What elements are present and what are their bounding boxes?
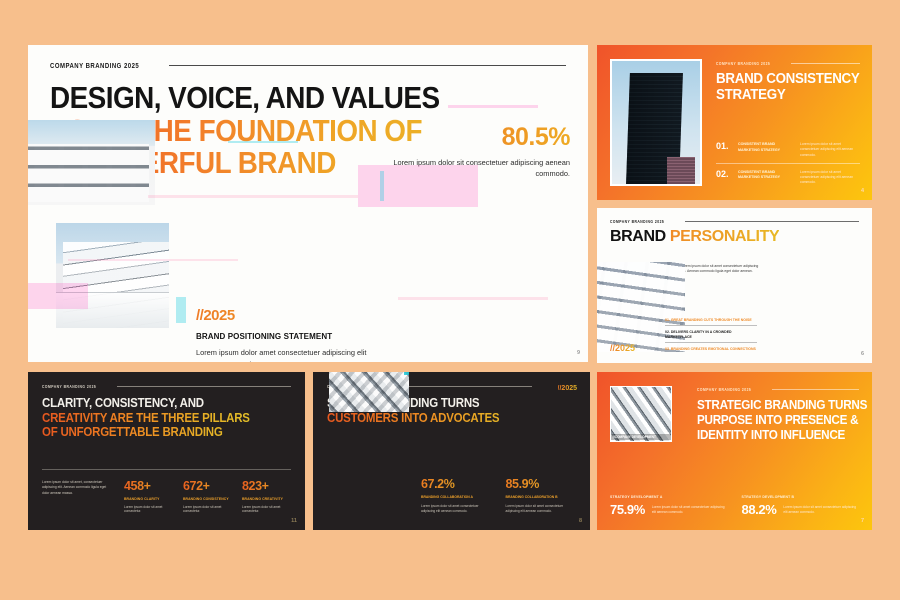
item-label: CONSISTENT BRAND MARKETING STRATEGY [738, 142, 794, 152]
personality-body: Lorem ipsum dolor sit amet consectetuer … [681, 264, 759, 275]
stat-block: 823+ BRANDING CREATIVITY Lorem ipsum dol… [242, 480, 291, 514]
stat-row: 75.9% Lorem ipsum dolor sit amet consect… [610, 503, 728, 516]
advocates-title-line-2: CUSTOMERS INTO ADVOCATES [327, 411, 556, 426]
stat-block: 458+ BRANDING CLARITY Lorem ipsum dolor … [124, 480, 173, 514]
strategic-kicker: COMPANY BRANDING 2025 [697, 387, 751, 392]
stat-label: BRANDING COLLABORATION A [421, 495, 492, 499]
stat-text: Lorem ipsum dolor sit amet consectetuer … [652, 505, 728, 515]
hero-year: //2025 [196, 307, 376, 324]
strategic-title-line-1: STRATEGIC BRANDING TURNS [697, 398, 843, 413]
stat-row: 88.2% Lorem ipsum dolor sit amet consect… [742, 503, 860, 516]
personality-kicker-row: COMPANY BRANDING 2025 [610, 219, 859, 224]
item-text: Lorem ipsum dolor sit amet consectetuer … [800, 170, 860, 185]
slide-customers-advocates[interactable]: COMPANY BRANDING 2025 STRONG BRANDING TU… [313, 372, 590, 530]
consistency-kicker-rule [791, 63, 860, 64]
stat-block: STRATEGY DEVELOPMENT B 88.2% Lorem ipsum… [742, 495, 860, 516]
teal-glitch-accent [404, 372, 409, 375]
stat-text: Lorem ipsum dolor sit amet consectetuer … [421, 504, 492, 514]
stat-label: BRANDING CONSISTENCY [183, 497, 232, 501]
hero-kicker-row: COMPANY BRANDING 2025 [50, 61, 566, 70]
stat-label: STRATEGY DEVELOPMENT B [742, 495, 860, 499]
consistency-kicker: COMPANY BRANDING 2025 [716, 61, 770, 66]
stat-block: 67.2% BRANDING COLLABORATION A Lorem ips… [421, 478, 492, 514]
hero-kicker: COMPANY BRANDING 2025 [50, 61, 139, 70]
slide-clarity-pillars[interactable]: COMPANY BRANDING 2025 CLARITY, CONSISTEN… [28, 372, 305, 530]
strategic-title: STRATEGIC BRANDING TURNS PURPOSE INTO PR… [697, 398, 859, 443]
slide-hero[interactable]: COMPANY BRANDING 2025 DESIGN, VOICE, AND… [28, 45, 588, 362]
clarity-divider [42, 469, 291, 470]
hero-stat: 80.5% Lorem ipsum dolor sit consectetuer… [385, 125, 570, 180]
item-label: CONSISTENT BRAND MARKETING STRATEGY [738, 170, 794, 180]
white-modern-building-photo [28, 120, 155, 205]
strategic-title-line-2: PURPOSE INTO PRESENCE & [697, 413, 843, 428]
stat-value: 67.2% [421, 478, 492, 491]
glass-tower-photo [610, 59, 702, 186]
stat-block: 672+ BRANDING CONSISTENCY Lorem ipsum do… [183, 480, 232, 514]
hero-positioning-block: //2025 BRAND POSITIONING STATEMENT Lorem… [196, 307, 376, 362]
consistency-title: BRAND CONSISTENCY STRATEGY [716, 72, 860, 103]
personality-kicker: COMPANY BRANDING 2025 [610, 219, 664, 224]
stat-value: 823+ [242, 480, 291, 493]
item-text: Lorem ipsum dolor sit amet consectetuer … [800, 142, 860, 157]
consistency-kicker-row: COMPANY BRANDING 2025 [716, 61, 860, 66]
stat-text: Lorem ipsum dolor sit amet consectetur. [124, 505, 173, 515]
consistency-page-number: 4 [861, 188, 864, 194]
personality-page-number: 6 [861, 351, 864, 357]
clarity-kicker: COMPANY BRANDING 2025 [42, 384, 96, 389]
slide-brand-consistency[interactable]: COMPANY BRANDING 2025 BRAND CONSISTENCY … [597, 45, 872, 200]
stat-value: 458+ [124, 480, 173, 493]
personality-title: BRAND PERSONALITY [610, 229, 859, 245]
stat-value: 88.2% [742, 503, 777, 516]
clarity-stats-grid: Lorem ipsum dolor sit amet, consectetuer… [42, 480, 291, 514]
stat-text: Lorem ipsum dolor sit amet consectetuer … [783, 505, 859, 515]
hero-kicker-rule [169, 65, 566, 66]
list-item: 01. GREAT BRANDING CUTS THROUGH THE NOIS… [665, 314, 757, 326]
hero-subtitle: BRAND POSITIONING STATEMENT [196, 332, 376, 341]
advocates-stats: 67.2% BRANDING COLLABORATION A Lorem ips… [421, 478, 576, 514]
stat-value: 75.9% [610, 503, 645, 516]
personality-title-black: BRAND [610, 228, 666, 245]
clarity-body: Lorem ipsum dolor sit amet, consectetuer… [42, 480, 114, 514]
list-item: 02. DELIVERS CLARITY IN A CROWDED MARKET… [665, 325, 757, 342]
clarity-page-number: 11 [291, 518, 297, 524]
personality-kicker-rule [685, 221, 859, 222]
strategic-stats: STRATEGY DEVELOPMENT A 75.9% Lorem ipsum… [610, 495, 859, 516]
stat-value: 85.9% [506, 478, 577, 491]
item-number: 02. [716, 170, 732, 179]
hero-page-number: 9 [577, 350, 580, 356]
item-number: 01. [716, 142, 732, 151]
stat-label: BRANDING CREATIVITY [242, 497, 291, 501]
consistency-list: 01. CONSISTENT BRAND MARKETING STRATEGY … [716, 136, 860, 190]
apartment-balconies-photo [56, 223, 169, 328]
stat-text: Lorem ipsum dolor sit amet consectetur. [242, 505, 291, 515]
hero-body: Lorem ipsum dolor amet consectetuer adip… [196, 347, 376, 362]
stat-label: STRATEGY DEVELOPMENT A [610, 495, 728, 499]
clarity-kicker-row: COMPANY BRANDING 2025 [42, 384, 291, 389]
slide-strategic-branding[interactable]: //COMPANY DEVELOPMENT COMPANY BRANDING 2… [597, 372, 872, 530]
strategic-kicker-row: COMPANY BRANDING 2025 [697, 387, 859, 392]
strategic-header: COMPANY BRANDING 2025 STRATEGIC BRANDING… [697, 387, 859, 443]
personality-list: 01. GREAT BRANDING CUTS THROUGH THE NOIS… [665, 314, 757, 355]
list-item: 03. BRANDING CREATES EMOTIONAL CONNECTIO… [665, 342, 757, 355]
consistency-header: COMPANY BRANDING 2025 BRAND CONSISTENCY … [716, 61, 860, 103]
diagonal-louvre-facade-photo [329, 372, 409, 412]
personality-year: //2025 [610, 343, 635, 353]
advocates-page-number: 8 [579, 518, 582, 524]
stat-text: Lorem ipsum dolor sit amet consectetuer … [506, 504, 577, 514]
strategic-title-line-3: IDENTITY INTO INFLUENCE [697, 428, 843, 443]
stat-text: Lorem ipsum dolor sit amet consectetur. [183, 505, 232, 515]
clarity-title-line-1: CLARITY, CONSISTENCY, AND [42, 396, 271, 411]
presentation-preview-board: COMPANY BRANDING 2025 DESIGN, VOICE, AND… [0, 0, 900, 600]
consistency-title-line-1: BRAND CONSISTENCY [716, 72, 848, 88]
consistency-title-line-2: STRATEGY [716, 88, 848, 104]
advocates-kicker-rule [402, 386, 532, 387]
slide-brand-personality[interactable]: COMPANY BRANDING 2025 BRAND PERSONALITY … [597, 208, 872, 363]
personality-title-orange: PERSONALITY [670, 228, 779, 245]
clarity-kicker-rule [117, 386, 291, 387]
advocates-year: //2025 [558, 385, 577, 392]
list-item: 02. CONSISTENT BRAND MARKETING STRATEGY … [716, 163, 860, 190]
strategic-page-number: 7 [861, 518, 864, 524]
stat-label: BRANDING COLLABORATION B [506, 495, 577, 499]
clarity-title-line-3: OF UNFORGETTABLE BRANDING [42, 425, 271, 440]
stat-value: 672+ [183, 480, 232, 493]
clarity-title: CLARITY, CONSISTENCY, AND CREATIVITY ARE… [42, 396, 291, 440]
stat-block: STRATEGY DEVELOPMENT A 75.9% Lorem ipsum… [610, 495, 728, 516]
list-item: 01. CONSISTENT BRAND MARKETING STRATEGY … [716, 136, 860, 162]
hero-stat-value: 80.5% [385, 125, 570, 150]
stat-label: BRANDING CLARITY [124, 497, 173, 501]
strategic-kicker-rule [772, 389, 859, 390]
hero-stat-body: Lorem ipsum dolor sit consectetuer adipi… [385, 157, 570, 180]
strategic-photo-caption: //COMPANY DEVELOPMENT [611, 434, 671, 440]
stat-block: 85.9% BRANDING COLLABORATION B Lorem ips… [506, 478, 577, 514]
hero-title-line-1: DESIGN, VOICE, AND VALUES [50, 82, 514, 115]
clarity-title-line-2: CREATIVITY ARE THE THREE PILLARS [42, 411, 271, 426]
